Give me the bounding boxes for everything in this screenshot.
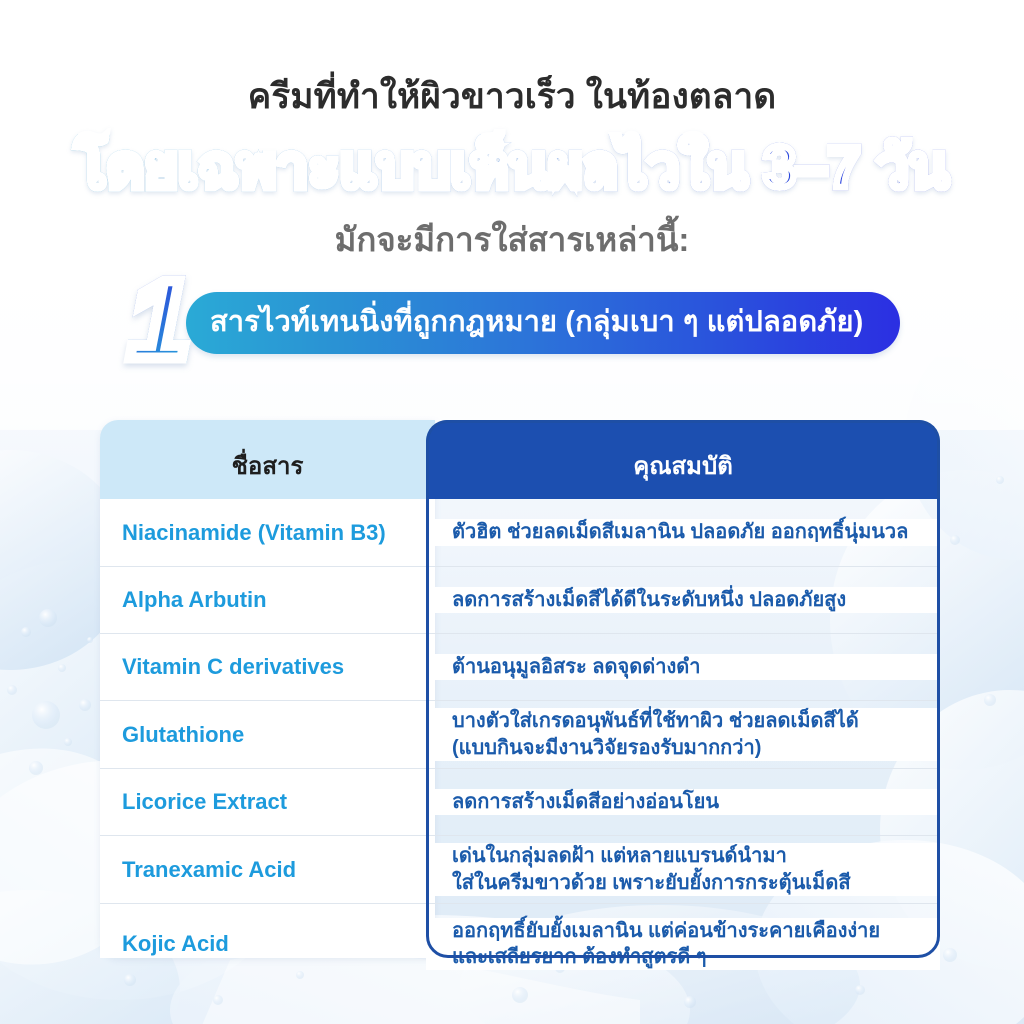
section-number-badge: 1 (128, 264, 190, 376)
property-line-1: ต้านอนุมูลอิสระ ลดจุดด่างดำ (452, 654, 926, 680)
table-body: Niacinamide (Vitamin B3) ตัวฮิต ช่วยลดเม… (100, 499, 940, 958)
property-line-1: ลดการสร้างเม็ดสีอย่างอ่อนโยน (452, 789, 926, 815)
property-line-1: ออกฤทธิ์ยับยั้งเมลานิน แต่ค่อนข้างระคายเ… (452, 918, 926, 944)
cell-ingredient-name: Tranexamic Acid (100, 856, 426, 884)
table-row: Vitamin C derivatives ต้านอนุมูลอิสระ ลด… (100, 633, 940, 700)
cell-ingredient-name: Kojic Acid (100, 930, 426, 958)
table-row: Glutathione บางตัวใส่เกรดอนุพันธ์ที่ใช้ท… (100, 700, 940, 768)
cell-ingredient-name: Glutathione (100, 721, 426, 749)
cell-ingredient-name: Licorice Extract (100, 788, 426, 816)
ingredients-table: ชื่อสาร Niacinamide (Vitamin B3) ตัวฮิต … (100, 420, 940, 965)
property-line-1: ลดการสร้างเม็ดสีได้ดีในระดับหนึ่ง ปลอดภั… (452, 587, 926, 613)
cell-ingredient-name: Niacinamide (Vitamin B3) (100, 519, 426, 547)
table-row: Licorice Extract ลดการสร้างเม็ดสีอย่างอ่… (100, 768, 940, 835)
property-line-1: เด่นในกลุ่มลดฝ้า แต่หลายแบรนด์นำมา (452, 843, 926, 869)
headline-line-3-subtitle: มักจะมีการใส่สารเหล่านี้: (0, 220, 1024, 260)
cell-ingredient-property: ลดการสร้างเม็ดสีอย่างอ่อนโยน (426, 789, 940, 815)
headline-line-2-highlight: โดยเฉพาะแบบเห็นผลไวใน 3–7 วัน (0, 134, 1024, 202)
property-line-1: ตัวฮิต ช่วยลดเม็ดสีเมลานิน ปลอดภัย ออกฤท… (452, 519, 926, 545)
table-row: Alpha Arbutin ลดการสร้างเม็ดสีได้ดีในระด… (100, 566, 940, 633)
cell-ingredient-property: เด่นในกลุ่มลดฝ้า แต่หลายแบรนด์นำมา ใส่ใน… (426, 843, 940, 896)
property-line-1: บางตัวใส่เกรดอนุพันธ์ที่ใช้ทาผิว ช่วยลดเ… (452, 708, 926, 734)
cell-ingredient-property: บางตัวใส่เกรดอนุพันธ์ที่ใช้ทาผิว ช่วยลดเ… (426, 708, 940, 761)
headline-line-1: ครีมที่ทำให้ผิวขาวเร็ว ในท้องตลาด (0, 76, 1024, 118)
section-pill-label: สารไวท์เทนนิ่งที่ถูกกฎหมาย (กลุ่มเบา ๆ แ… (210, 304, 900, 340)
property-line-2: ใส่ในครีมขาวด้วย เพราะยับยั้งการกระตุ้นเ… (452, 870, 926, 896)
property-line-2: และเสถียรยาก ต้องทำสูตรดี ๆ (452, 944, 926, 970)
cell-ingredient-property: ต้านอนุมูลอิสระ ลดจุดด่างดำ (426, 654, 940, 680)
table-row: Kojic Acid ออกฤทธิ์ยับยั้งเมลานิน แต่ค่อ… (100, 903, 940, 984)
section-header-1: สารไวท์เทนนิ่งที่ถูกกฎหมาย (กลุ่มเบา ๆ แ… (0, 286, 1024, 390)
poster-canvas: ครีมที่ทำให้ผิวขาวเร็ว ในท้องตลาด โดยเฉพ… (0, 0, 1024, 1024)
table-row: Tranexamic Acid เด่นในกลุ่มลดฝ้า แต่หลาย… (100, 835, 940, 903)
property-line-2: (แบบกินจะมีงานวิจัยรองรับมากกว่า) (452, 735, 926, 761)
cell-ingredient-property: ตัวฮิต ช่วยลดเม็ดสีเมลานิน ปลอดภัย ออกฤท… (426, 519, 940, 545)
table-header-label-property: คุณสมบัติ (426, 446, 940, 485)
cell-ingredient-property: ออกฤทธิ์ยับยั้งเมลานิน แต่ค่อนข้างระคายเ… (426, 918, 940, 971)
cell-ingredient-property: ลดการสร้างเม็ดสีได้ดีในระดับหนึ่ง ปลอดภั… (426, 587, 940, 613)
cell-ingredient-name: Vitamin C derivatives (100, 653, 426, 681)
cell-ingredient-name: Alpha Arbutin (100, 586, 426, 614)
table-row: Niacinamide (Vitamin B3) ตัวฮิต ช่วยลดเม… (100, 499, 940, 566)
table-header-label-name: ชื่อสาร (100, 446, 435, 485)
